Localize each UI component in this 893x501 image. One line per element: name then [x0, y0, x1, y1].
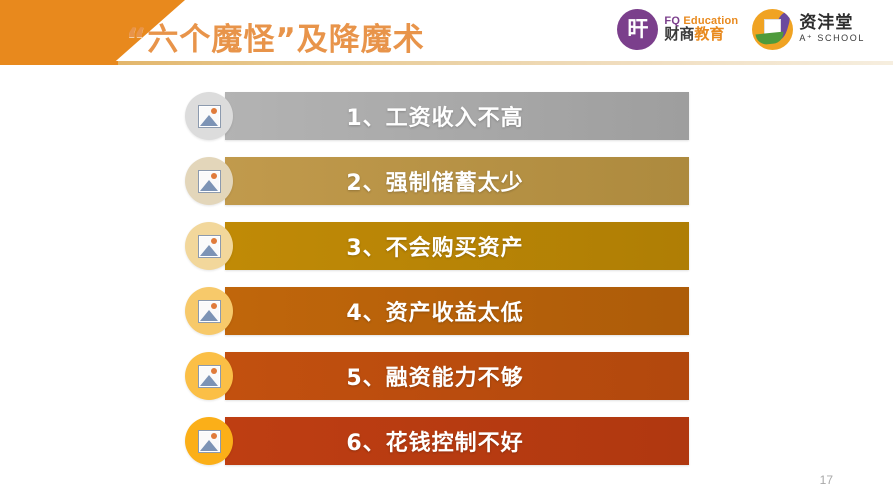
list-item[interactable]: 3、不会购买资产: [0, 214, 893, 278]
fq-chinese-secondary: 教育: [694, 26, 724, 43]
zifengtang-leaf-shape: [756, 32, 785, 46]
zifengtang-chinese-name: 资沣堂: [799, 15, 865, 33]
fq-chinese-line: 财商教育: [664, 27, 738, 43]
zifengtang-english-name: A⁺ SCHOOL: [799, 34, 865, 43]
broken-image-placeholder-icon: [198, 170, 221, 193]
slide-header: “六个魔怪”及降魔术 旰 FQ Education 财商教育: [0, 0, 893, 68]
list-item-label: 1、工资收入不高: [346, 100, 523, 132]
list-item-bullet[interactable]: [185, 352, 233, 400]
fq-chinese-primary: 财商: [664, 26, 694, 43]
list-item-bar[interactable]: 4、资产收益太低: [225, 287, 689, 335]
list-item[interactable]: 2、强制储蓄太少: [0, 149, 893, 213]
list-item[interactable]: 4、资产收益太低: [0, 279, 893, 343]
broken-image-placeholder-icon: [198, 365, 221, 388]
list-item-bullet[interactable]: [185, 222, 233, 270]
header-divider-line: [0, 61, 893, 65]
header-divider-accent: [0, 61, 118, 65]
list-item[interactable]: 6、花钱控制不好: [0, 409, 893, 473]
broken-image-placeholder-icon: [198, 300, 221, 323]
list-item-bullet[interactable]: [185, 157, 233, 205]
logo-group: 旰 FQ Education 财商教育: [617, 9, 865, 50]
list-item[interactable]: 5、融资能力不够: [0, 344, 893, 408]
list-item-label: 4、资产收益太低: [346, 295, 523, 327]
broken-image-placeholder-icon: [198, 430, 221, 453]
zifengtang-wordmark: 资沣堂 A⁺ SCHOOL: [799, 15, 865, 43]
logo-fq-education: 旰 FQ Education 财商教育: [617, 9, 738, 50]
fq-education-logo-icon: 旰: [617, 9, 658, 50]
list-item-bullet[interactable]: [185, 287, 233, 335]
list-item-bar[interactable]: 2、强制储蓄太少: [225, 157, 689, 205]
list-item-label: 2、强制储蓄太少: [346, 165, 523, 197]
list-item-bullet[interactable]: [185, 92, 233, 140]
fq-education-wordmark: FQ Education 财商教育: [664, 16, 738, 43]
list-item-bar[interactable]: 3、不会购买资产: [225, 222, 689, 270]
list-item-label: 5、融资能力不够: [346, 360, 523, 392]
list-item-label: 3、不会购买资产: [346, 230, 523, 262]
problem-list: 1、工资收入不高 2、强制储蓄太少 3、不会购买资产 4、资产收: [0, 84, 893, 474]
page-title: “六个魔怪”及降魔术: [126, 14, 425, 59]
list-item-bar[interactable]: 1、工资收入不高: [225, 92, 689, 140]
broken-image-placeholder-icon: [198, 105, 221, 128]
logo-zifengtang: 资沣堂 A⁺ SCHOOL: [752, 9, 865, 50]
list-item-bar[interactable]: 6、花钱控制不好: [225, 417, 689, 465]
slide-canvas: “六个魔怪”及降魔术 旰 FQ Education 财商教育: [0, 0, 893, 501]
list-item[interactable]: 1、工资收入不高: [0, 84, 893, 148]
zifengtang-logo-icon: [752, 9, 793, 50]
list-item-label: 6、花钱控制不好: [346, 425, 523, 457]
list-item-bullet[interactable]: [185, 417, 233, 465]
broken-image-placeholder-icon: [198, 235, 221, 258]
list-item-bar[interactable]: 5、融资能力不够: [225, 352, 689, 400]
fq-monogram-glyph: 旰: [627, 19, 648, 40]
page-number: 17: [820, 473, 833, 487]
